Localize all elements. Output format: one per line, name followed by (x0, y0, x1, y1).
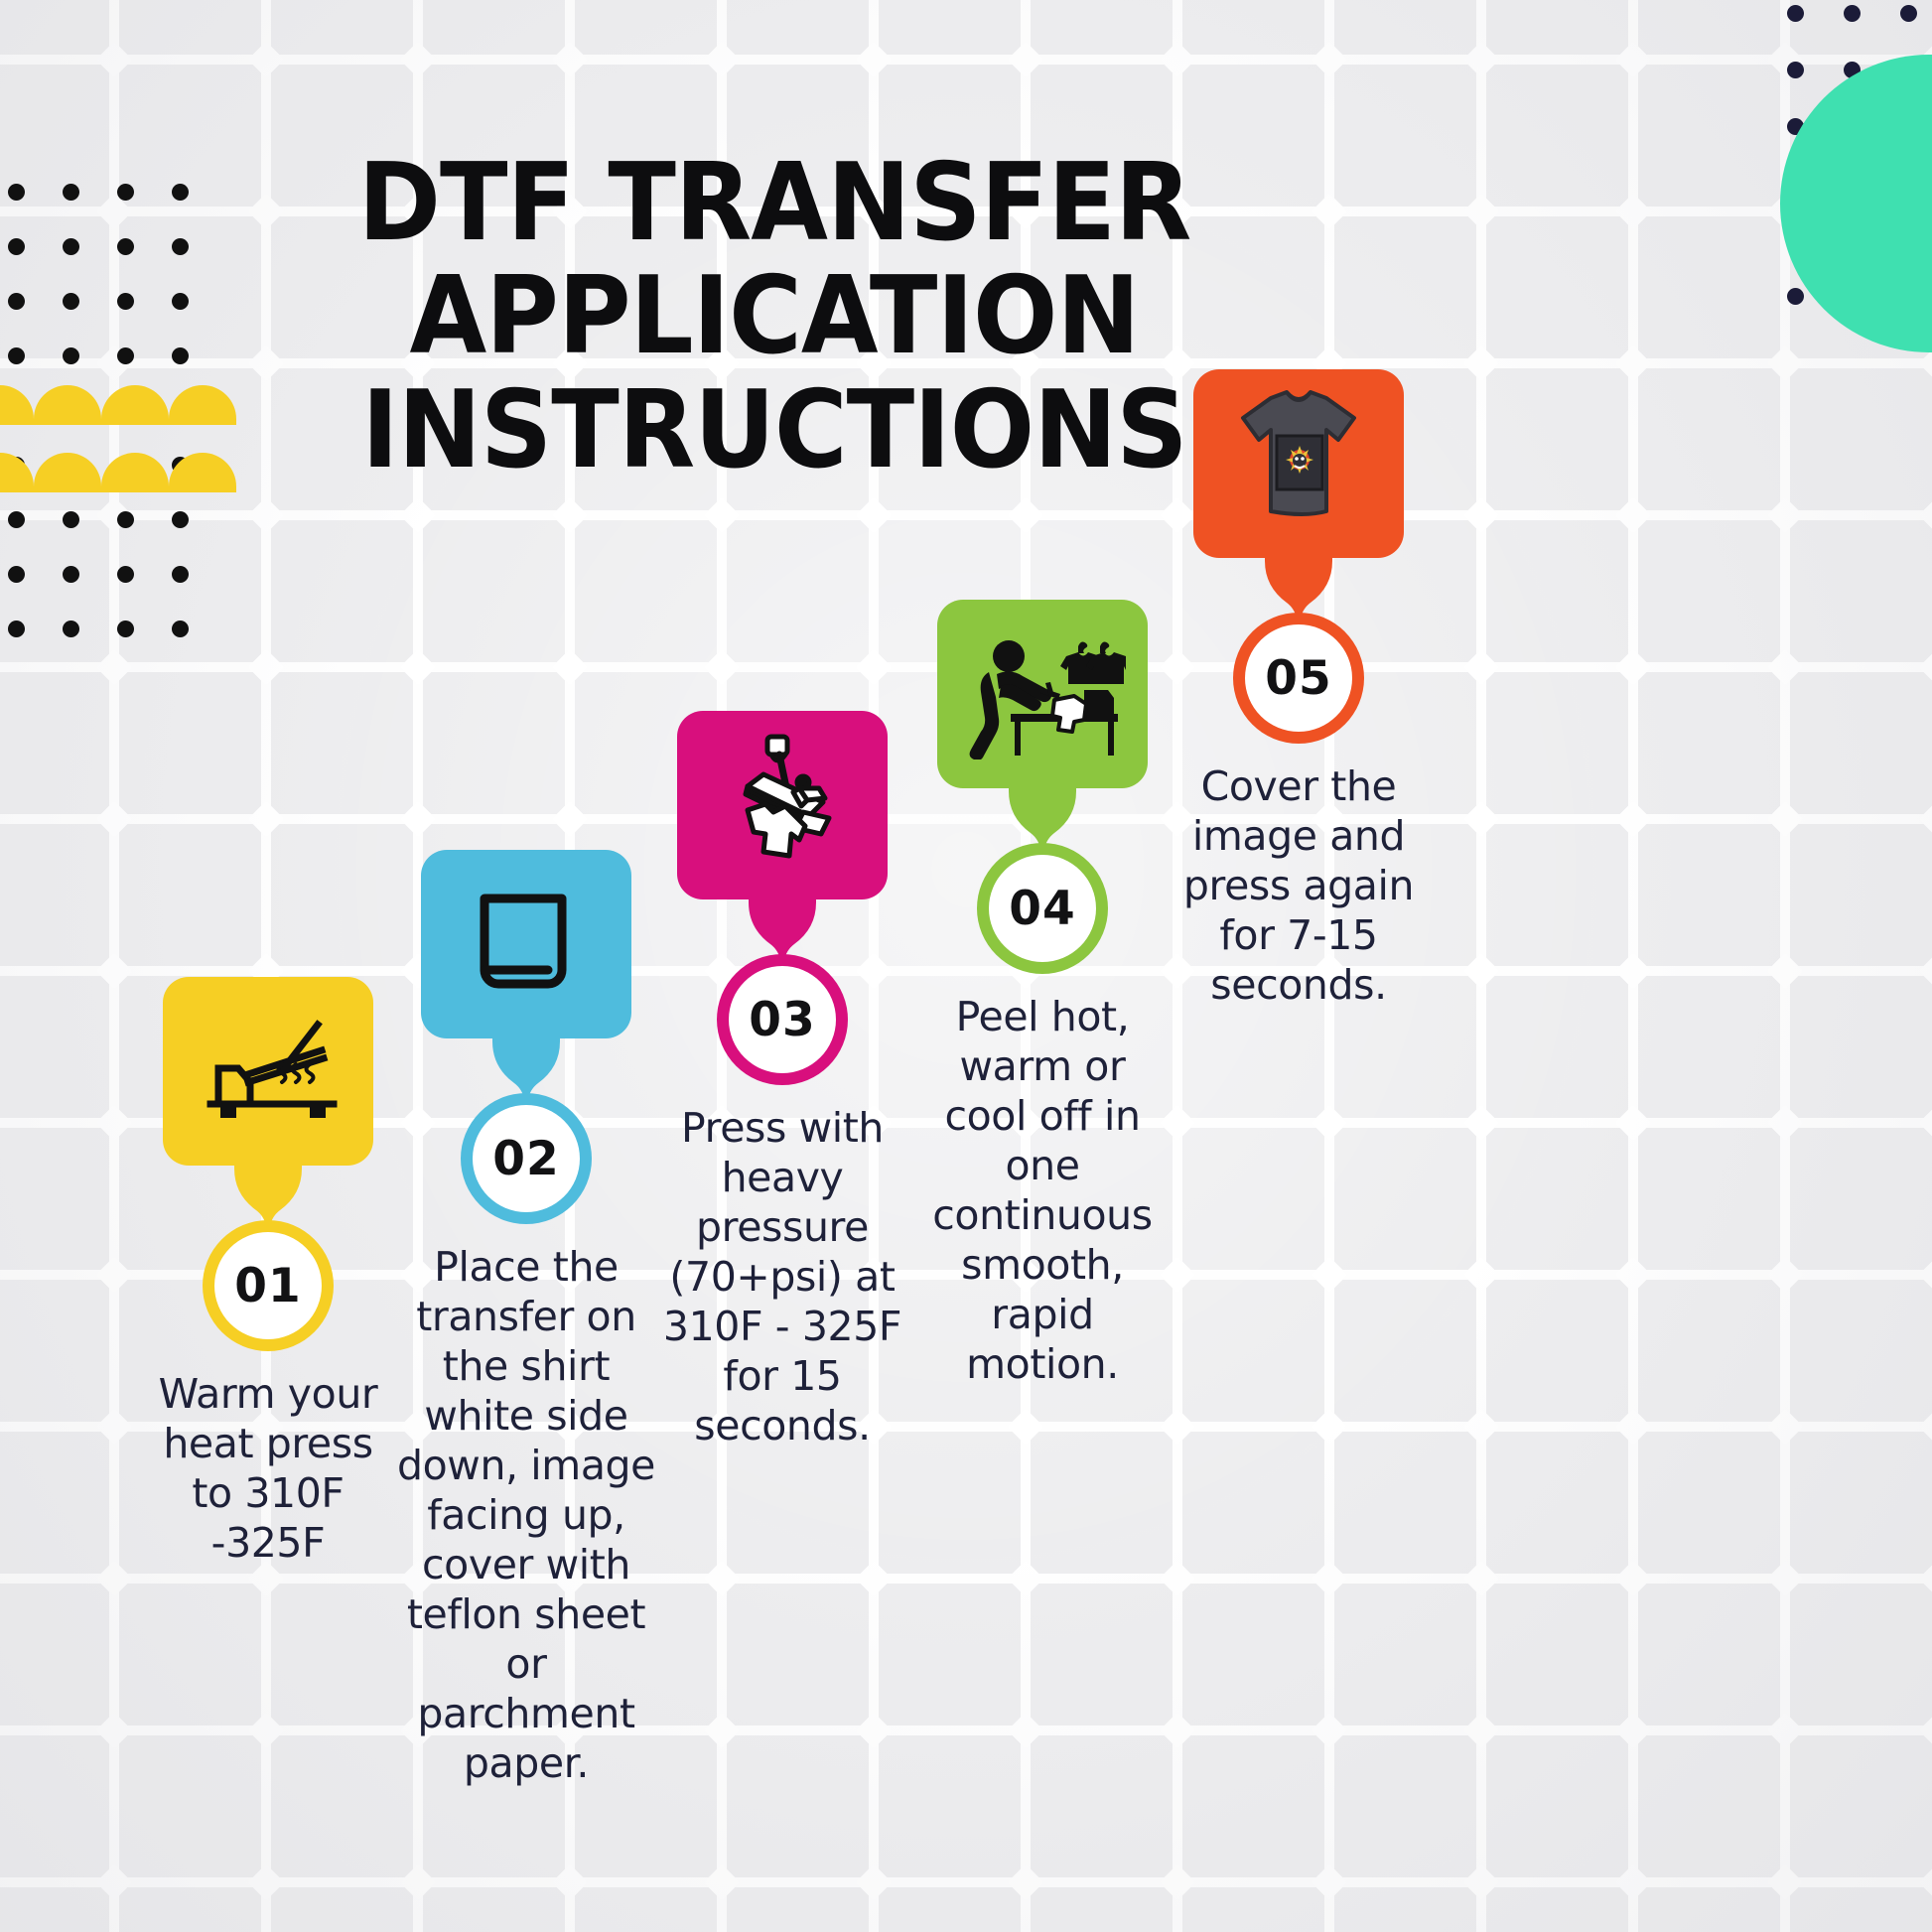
step-01-number: 01 (214, 1232, 322, 1339)
step-03: 03 Press with heavy pressure (70+psi) at… (653, 711, 911, 1450)
decor-dot (172, 238, 189, 255)
heat-press-shirt-icon (708, 731, 857, 880)
decor-dot (63, 621, 79, 637)
decor-dot (63, 184, 79, 201)
decor-dot (63, 511, 79, 528)
decor-dot (63, 347, 79, 364)
decor-dot (1787, 288, 1804, 305)
decor-dot (63, 238, 79, 255)
step-05-connector (1193, 557, 1404, 619)
decor-dot (172, 293, 189, 310)
step-04-description: Peel hot, warm or cool off in one contin… (913, 992, 1172, 1389)
step-03-card[interactable] (677, 711, 888, 899)
decor-dot (117, 184, 134, 201)
step-01-card[interactable] (163, 977, 373, 1166)
step-01-number-badge: 01 (203, 1220, 334, 1351)
step-connector-shape (937, 787, 1148, 849)
step-03-number: 03 (729, 966, 836, 1073)
decor-dot (1900, 5, 1917, 22)
step-02-description: Place the transfer on the shirt white si… (397, 1242, 655, 1788)
step-05-description: Cover the image and press again for 7-15… (1170, 761, 1428, 1010)
decor-dot (172, 347, 189, 364)
decor-dot (117, 347, 134, 364)
printed-tshirt-icon (1219, 388, 1378, 539)
step-connector-shape (1193, 557, 1404, 619)
step-04-connector (937, 787, 1148, 849)
step-01-description: Warm your heat press to 310F -325F (139, 1369, 397, 1568)
infographic-poster: DTF TRANSFER APPLICATION INSTRUCTIONS (0, 0, 1932, 1932)
step-05: 05 Cover the image and press again for 7… (1170, 369, 1428, 1010)
decor-dot (117, 566, 134, 583)
step-connector-shape (421, 1037, 631, 1099)
step-connector-shape (677, 898, 888, 960)
decor-dot (117, 238, 134, 255)
decor-dot (8, 238, 25, 255)
decor-dot (8, 347, 25, 364)
step-02-number-badge: 02 (461, 1093, 592, 1224)
decor-dot (172, 621, 189, 637)
step-02: 02 Place the transfer on the shirt white… (397, 850, 655, 1788)
step-02-connector (421, 1037, 631, 1099)
step-04: 04 Peel hot, warm or cool off in one con… (913, 600, 1172, 1389)
person-peeling-transfer-icon (959, 628, 1126, 759)
decor-dot (63, 566, 79, 583)
decor-dot (8, 184, 25, 201)
decor-dot (1844, 5, 1861, 22)
decor-dot (1787, 62, 1804, 78)
step-05-card[interactable] (1193, 369, 1404, 558)
step-04-number-badge: 04 (977, 843, 1108, 974)
decor-dot (1787, 5, 1804, 22)
decor-dot (117, 511, 134, 528)
decor-dot (172, 511, 189, 528)
step-02-card[interactable] (421, 850, 631, 1038)
step-04-card[interactable] (937, 600, 1148, 788)
transfer-sheet-icon (467, 885, 586, 1004)
step-connector-shape (163, 1165, 373, 1226)
decor-dot (8, 621, 25, 637)
step-03-description: Press with heavy pressure (70+psi) at 31… (653, 1103, 911, 1450)
step-01-connector (163, 1165, 373, 1226)
step-05-number: 05 (1245, 624, 1352, 732)
step-02-number: 02 (473, 1105, 580, 1212)
decor-dot (117, 621, 134, 637)
step-04-number: 04 (989, 855, 1096, 962)
decor-dot (172, 184, 189, 201)
decor-dot (8, 566, 25, 583)
step-03-number-badge: 03 (717, 954, 848, 1085)
decor-dot (172, 566, 189, 583)
decor-dot (63, 293, 79, 310)
step-01: 01 Warm your heat press to 310F -325F (139, 977, 397, 1568)
step-05-number-badge: 05 (1233, 613, 1364, 744)
decor-dot (8, 293, 25, 310)
step-03-connector (677, 898, 888, 960)
decor-dot (117, 293, 134, 310)
heat-press-open-icon (199, 1017, 338, 1126)
decor-dot (8, 511, 25, 528)
